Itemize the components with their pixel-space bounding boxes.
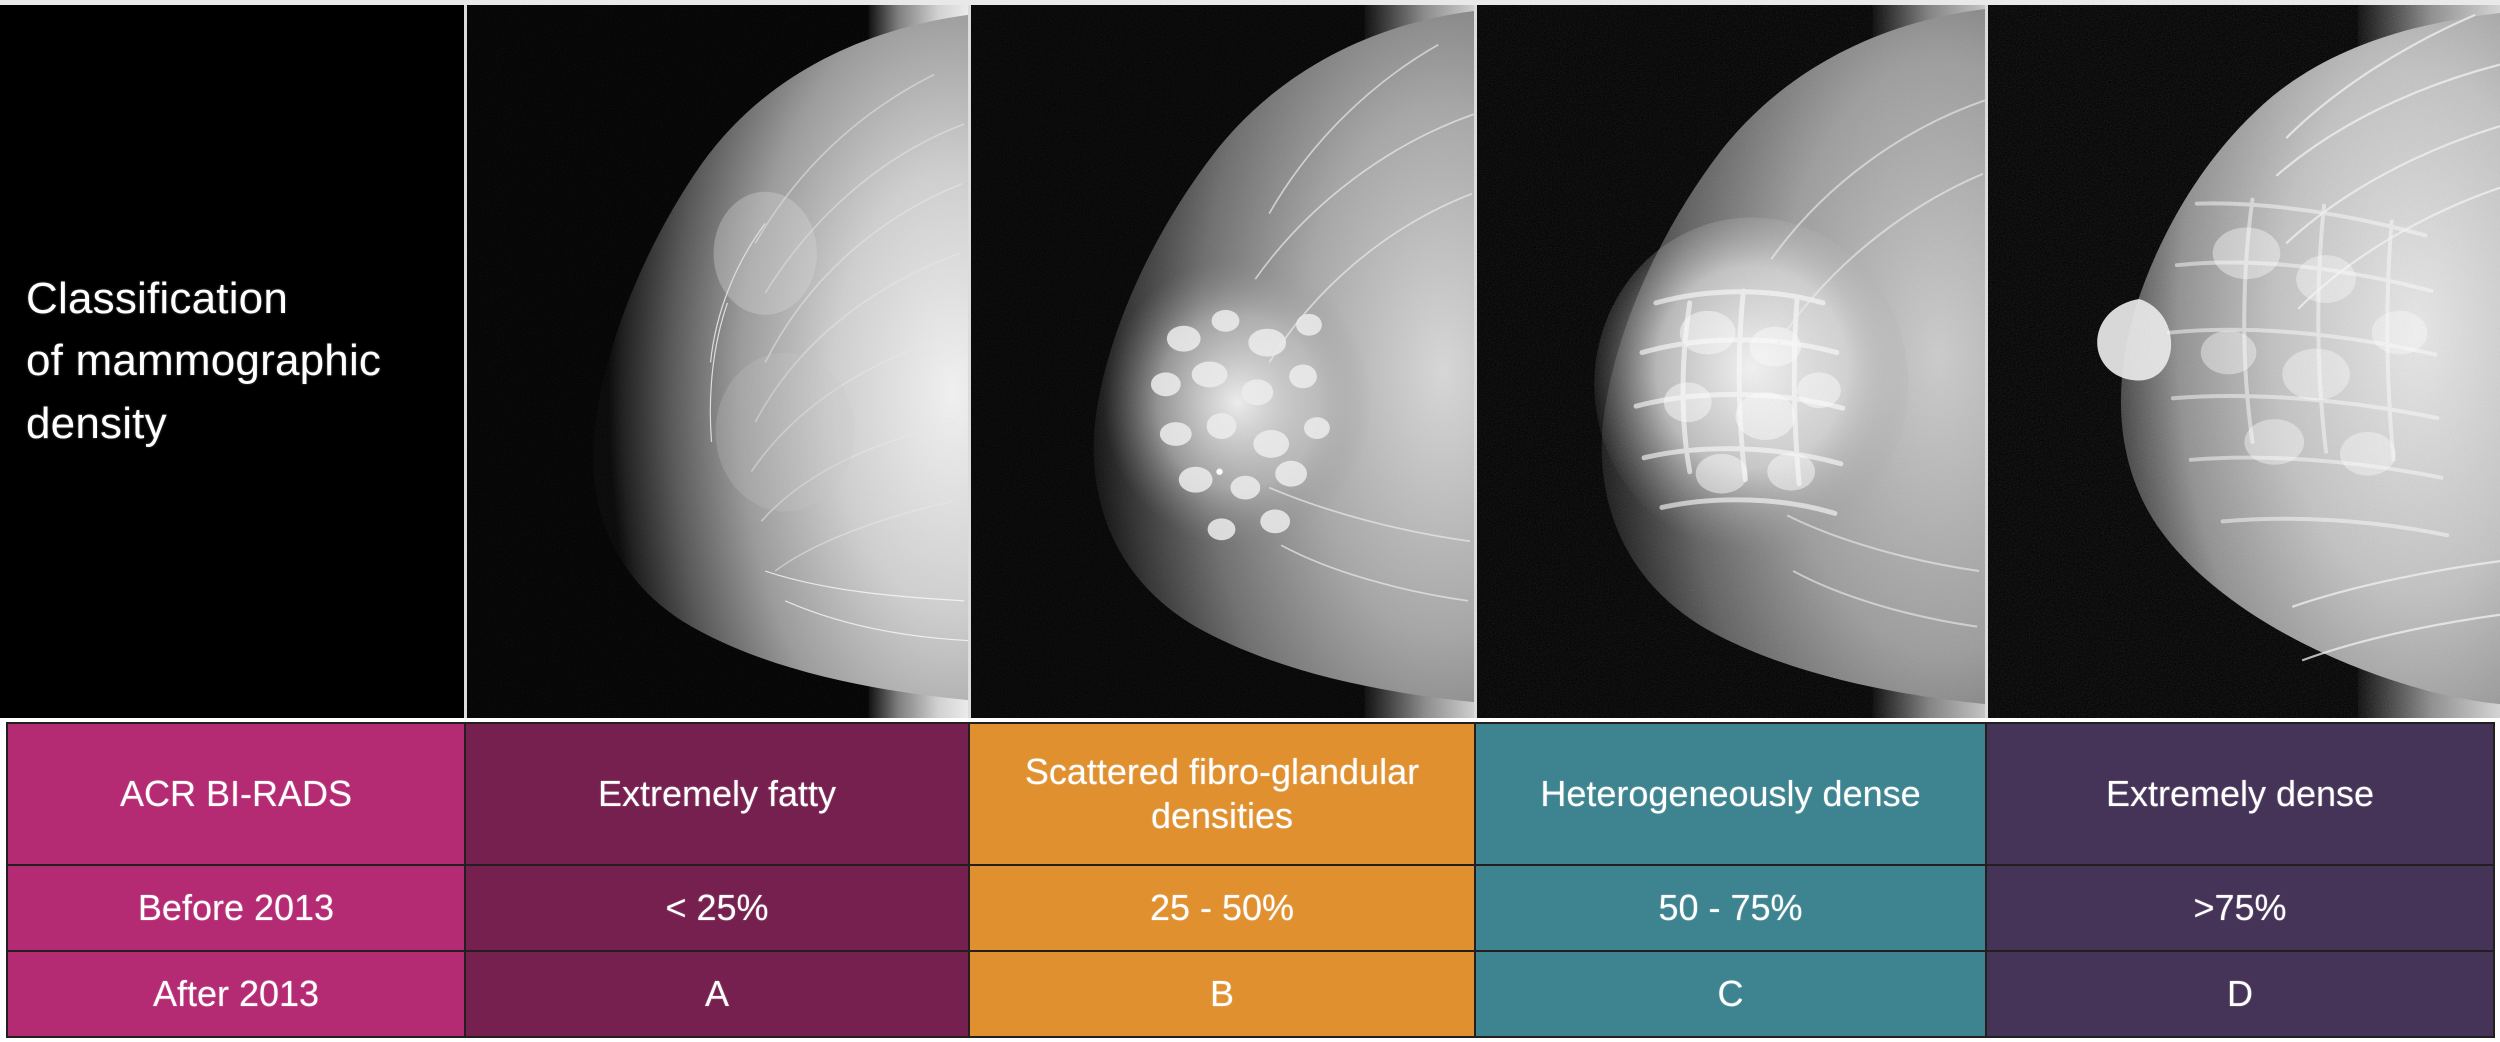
mammogram-image-a bbox=[467, 5, 968, 718]
row-label-after-2013: After 2013 bbox=[7, 951, 465, 1037]
row-label-before-2013: Before 2013 bbox=[7, 865, 465, 951]
density-classification-table: ACR BI-RADS Extremely fatty Scattered fi… bbox=[6, 722, 2495, 1038]
figure-title: Classification of mammographic density bbox=[26, 268, 381, 455]
mammogram-image-d bbox=[1988, 5, 2500, 718]
cell-category-name-b: Scattered fibro-glandular densities bbox=[969, 723, 1475, 865]
cell-after-2013-c: C bbox=[1475, 951, 1986, 1037]
cell-after-2013-b: B bbox=[969, 951, 1475, 1037]
mammogram-image-strip: Classification of mammographic density bbox=[0, 0, 2500, 718]
cell-category-name-c: Heterogeneously dense bbox=[1475, 723, 1986, 865]
figure-title-panel: Classification of mammographic density bbox=[0, 5, 464, 718]
table-row-after-2013: After 2013 A B C D bbox=[7, 951, 2494, 1037]
cell-after-2013-d: D bbox=[1986, 951, 2494, 1037]
mammogram-panel-a bbox=[464, 5, 968, 718]
cell-before-2013-c: 50 - 75% bbox=[1475, 865, 1986, 951]
table-row-before-2013: Before 2013 < 25% 25 - 50% 50 - 75% >75% bbox=[7, 865, 2494, 951]
cell-after-2013-a: A bbox=[465, 951, 969, 1037]
cell-category-name-d: Extremely dense bbox=[1986, 723, 2494, 865]
mammogram-panel-b bbox=[968, 5, 1474, 718]
mammogram-panel-d bbox=[1985, 5, 2500, 718]
mammographic-density-figure: Classification of mammographic density bbox=[0, 0, 2500, 1042]
cell-before-2013-d: >75% bbox=[1986, 865, 2494, 951]
cell-before-2013-b: 25 - 50% bbox=[969, 865, 1475, 951]
row-label-acr-birads: ACR BI-RADS bbox=[7, 723, 465, 865]
mammogram-image-b bbox=[971, 5, 1474, 718]
cell-category-name-a: Extremely fatty bbox=[465, 723, 969, 865]
mammogram-image-c bbox=[1477, 5, 1985, 718]
mammogram-panel-c bbox=[1474, 5, 1985, 718]
cell-before-2013-a: < 25% bbox=[465, 865, 969, 951]
table-row-birads: ACR BI-RADS Extremely fatty Scattered fi… bbox=[7, 723, 2494, 865]
